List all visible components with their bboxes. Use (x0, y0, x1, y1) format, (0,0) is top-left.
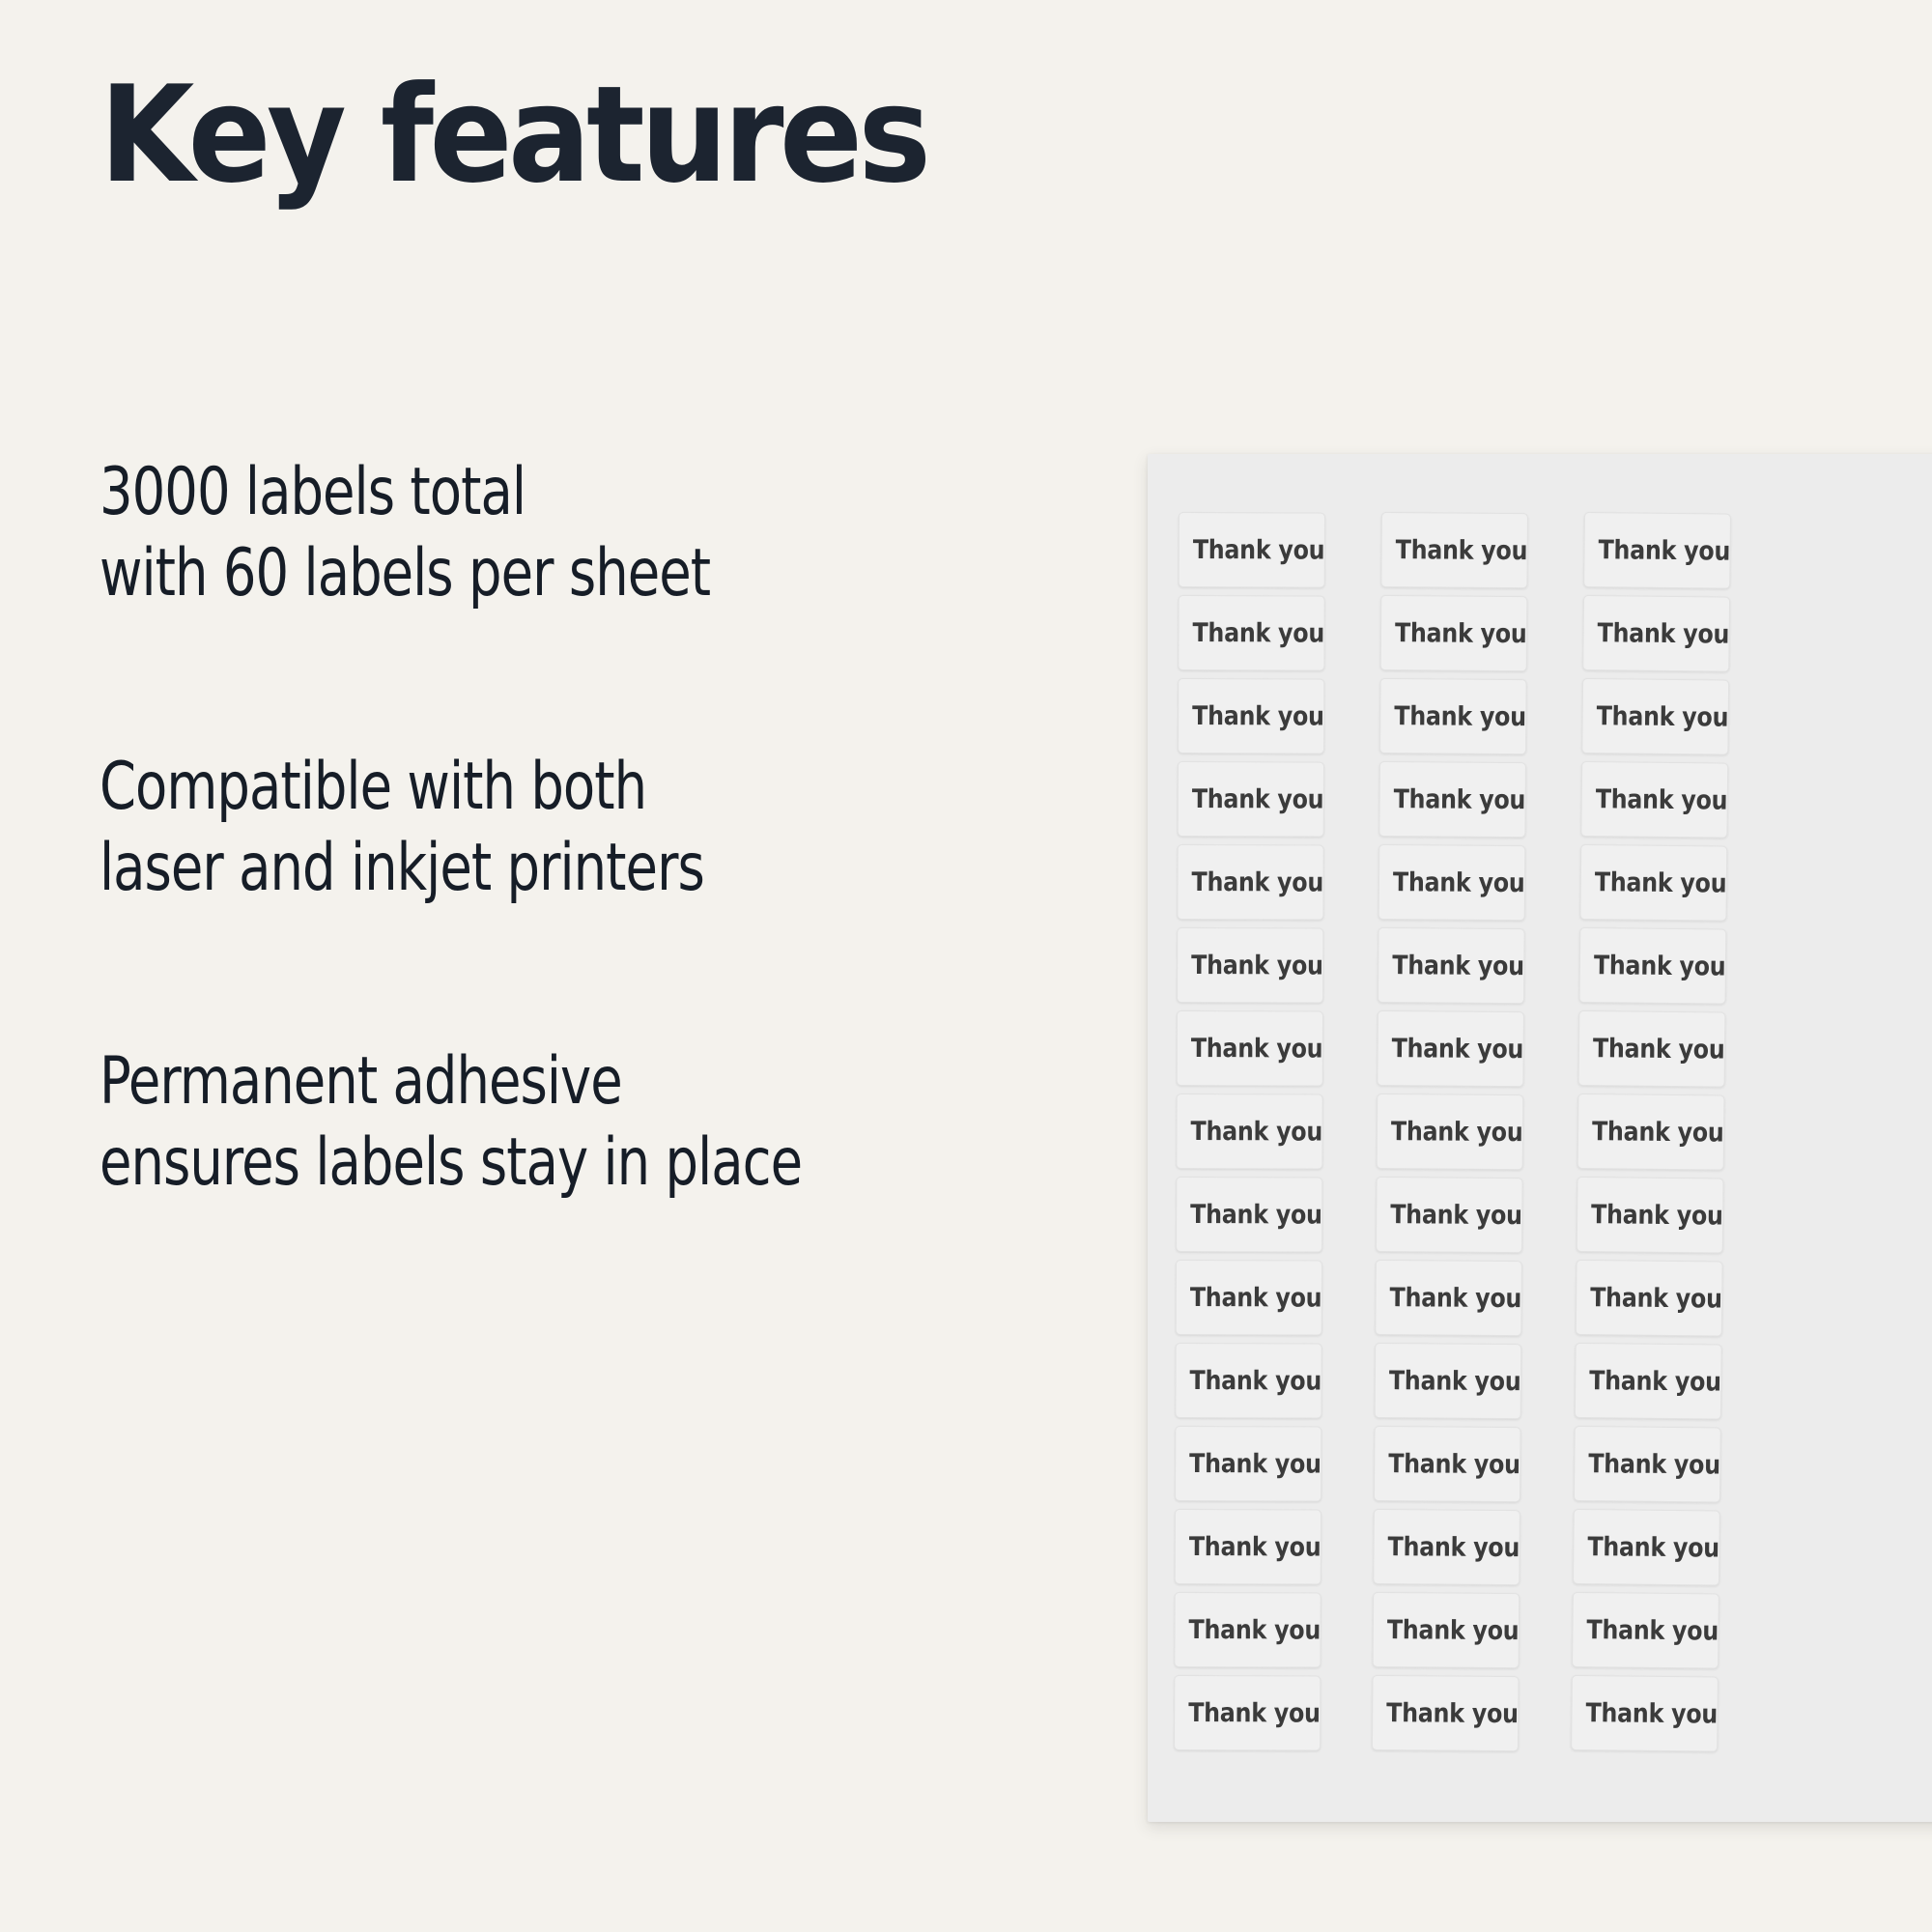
label-sticker-text: Thank you (1390, 1202, 1522, 1229)
label-sticker-text: Thank you (1394, 703, 1526, 730)
label-sticker: Thank you (1175, 1343, 1321, 1419)
label-sticker: Thank you (1373, 1592, 1520, 1668)
label-sticker-text: Thank you (1588, 1451, 1720, 1478)
label-sticker: Thank you (1177, 927, 1323, 1004)
label-sticker-text: Thank you (1191, 869, 1323, 896)
label-sticker-text: Thank you (1189, 1534, 1321, 1561)
label-sticker: Thank you (1377, 1094, 1524, 1170)
label-sticker-text: Thank you (1193, 537, 1325, 564)
label-sticker-text: Thank you (1587, 1534, 1719, 1561)
label-sticker-text: Thank you (1393, 869, 1525, 896)
feature-item-printer-compatibility: Compatible with both laser and inkjet pr… (99, 747, 1085, 909)
label-sticker-text: Thank you (1190, 1119, 1322, 1146)
label-sticker: Thank you (1179, 512, 1325, 588)
label-sticker-text: Thank you (1392, 952, 1524, 980)
label-sticker-text: Thank you (1395, 620, 1527, 647)
feature-line: Compatible with both (99, 747, 888, 828)
label-sticker-text: Thank you (1598, 537, 1730, 564)
label-sticker-text: Thank you (1189, 1368, 1321, 1395)
label-sticker-text: Thank you (1188, 1700, 1321, 1727)
label-sticker: Thank you (1374, 1426, 1521, 1502)
label-sticker: Thank you (1375, 1343, 1522, 1419)
label-sticker: Thank you (1577, 1094, 1725, 1171)
label-sticker-text: Thank you (1191, 1036, 1323, 1063)
label-sticker: Thank you (1582, 595, 1730, 672)
label-sticker: Thank you (1574, 1426, 1721, 1503)
label-sticker-text: Thank you (1585, 1700, 1718, 1727)
label-column: Thank youThank youThank youThank youThan… (1372, 512, 1528, 1759)
label-sticker: Thank you (1376, 1177, 1523, 1253)
label-sticker-text: Thank you (1598, 620, 1730, 647)
label-sticker: Thank you (1372, 1675, 1520, 1751)
label-sticker: Thank you (1373, 1509, 1520, 1585)
content-column: Key features 3000 labels total with 60 l… (99, 68, 1085, 204)
label-sticker: Thank you (1378, 761, 1526, 838)
label-sticker: Thank you (1583, 512, 1731, 589)
feature-line: laser and inkjet printers (99, 828, 888, 909)
label-sticker-text: Thank you (1387, 1617, 1520, 1644)
label-sticker: Thank you (1579, 927, 1727, 1005)
label-sticker: Thank you (1572, 1592, 1719, 1669)
label-sticker-text: Thank you (1389, 1368, 1521, 1395)
label-grid: Thank youThank youThank youThank youThan… (1177, 512, 1932, 1768)
label-sticker: Thank you (1378, 844, 1526, 921)
label-sticker: Thank you (1178, 595, 1324, 671)
label-sticker-text: Thank you (1586, 1617, 1719, 1644)
label-sticker: Thank you (1375, 1260, 1522, 1336)
label-sticker: Thank you (1379, 678, 1527, 754)
label-sheet: Thank youThank youThank youThank youThan… (1148, 454, 1932, 1822)
label-sticker-text: Thank you (1190, 1285, 1322, 1312)
label-sticker-text: Thank you (1192, 703, 1324, 730)
label-sticker-text: Thank you (1589, 1368, 1721, 1395)
feature-line: ensures labels stay in place (99, 1122, 888, 1204)
label-sticker: Thank you (1175, 1426, 1321, 1502)
label-sticker: Thank you (1178, 678, 1324, 754)
feature-line: with 60 labels per sheet (99, 533, 888, 614)
label-sticker: Thank you (1175, 1509, 1321, 1585)
label-sticker-text: Thank you (1394, 786, 1526, 813)
label-sticker-text: Thank you (1396, 537, 1528, 564)
label-sticker: Thank you (1579, 844, 1727, 922)
feature-line: 3000 labels total (99, 452, 888, 533)
label-sticker: Thank you (1380, 595, 1528, 671)
label-sticker-text: Thank you (1595, 869, 1727, 896)
label-sticker-text: Thank you (1189, 1617, 1321, 1644)
label-sticker-text: Thank you (1590, 1285, 1722, 1312)
label-sticker-text: Thank you (1388, 1451, 1520, 1478)
marketing-feature-panel: Key features 3000 labels total with 60 l… (0, 0, 1932, 1932)
label-sticker-text: Thank you (1591, 1202, 1723, 1229)
label-sticker: Thank you (1176, 1260, 1322, 1336)
label-column: Thank youThank youThank youThank youThan… (1571, 512, 1731, 1760)
label-sticker-text: Thank you (1192, 620, 1324, 647)
label-sticker: Thank you (1580, 761, 1728, 838)
label-sticker: Thank you (1578, 1010, 1726, 1088)
label-sticker-text: Thank you (1592, 1119, 1724, 1146)
label-column: Thank youThank youThank youThank youThan… (1174, 512, 1325, 1759)
label-sticker-text: Thank you (1597, 703, 1729, 730)
label-sticker-text: Thank you (1392, 1036, 1524, 1063)
label-sticker: Thank you (1377, 1010, 1524, 1087)
label-sticker-text: Thank you (1387, 1534, 1520, 1561)
label-sticker-text: Thank you (1391, 1119, 1523, 1146)
label-sticker: Thank you (1177, 844, 1323, 921)
label-sheet-image: Thank youThank youThank youThank youThan… (1148, 454, 1932, 1822)
feature-item-labels-total: 3000 labels total with 60 labels per she… (99, 452, 1085, 614)
label-sticker-text: Thank you (1596, 786, 1728, 813)
label-sticker-text: Thank you (1190, 1202, 1322, 1229)
page-title: Key features (99, 68, 1006, 204)
feature-item-permanent-adhesive: Permanent adhesive ensures labels stay i… (99, 1041, 1085, 1204)
label-sticker: Thank you (1575, 1343, 1722, 1420)
label-sticker-text: Thank you (1593, 1036, 1725, 1063)
label-sticker: Thank you (1176, 1094, 1322, 1170)
label-sticker: Thank you (1176, 1177, 1322, 1253)
label-sticker-text: Thank you (1390, 1285, 1522, 1312)
label-sticker-text: Thank you (1594, 952, 1726, 980)
label-sticker: Thank you (1378, 927, 1525, 1004)
label-sticker-text: Thank you (1386, 1700, 1519, 1727)
label-sticker: Thank you (1576, 1260, 1723, 1337)
label-sticker: Thank you (1581, 678, 1729, 755)
label-sticker: Thank you (1174, 1592, 1321, 1668)
label-sticker: Thank you (1573, 1509, 1720, 1586)
label-sticker: Thank you (1177, 1010, 1323, 1087)
label-sticker: Thank you (1577, 1177, 1724, 1254)
feature-list: 3000 labels total with 60 labels per she… (99, 452, 1085, 1204)
label-sticker-text: Thank you (1191, 952, 1323, 980)
label-sticker-text: Thank you (1189, 1451, 1321, 1478)
label-sticker: Thank you (1571, 1675, 1719, 1752)
label-sticker: Thank you (1174, 1675, 1321, 1751)
label-sticker-text: Thank you (1192, 786, 1324, 813)
feature-line: Permanent adhesive (99, 1041, 888, 1122)
label-sticker: Thank you (1380, 512, 1528, 588)
label-sticker: Thank you (1178, 761, 1324, 838)
